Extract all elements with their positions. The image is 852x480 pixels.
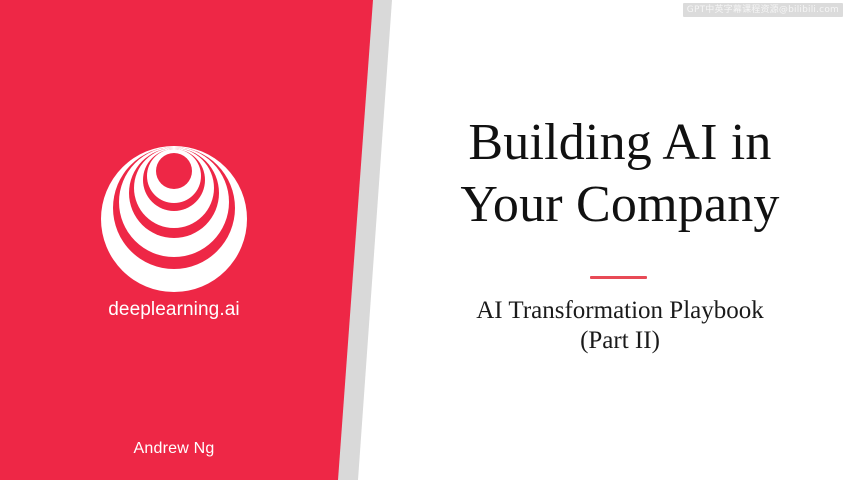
watermark-label: GPT中英字幕课程资源@bilibili.com [683,3,843,17]
slide-title-line-2: Your Company [400,174,840,236]
deeplearning-ai-logo-icon [100,144,248,294]
brand-panel: deeplearning.ai Andrew Ng [0,0,348,480]
horizontal-rule-icon [590,276,647,279]
slide-subtitle-line-1: AI Transformation Playbook [400,296,840,326]
slide-subtitle: AI Transformation Playbook (Part II) [400,296,840,356]
slide-title: Building AI in Your Company [400,112,840,236]
slide-title-line-1: Building AI in [400,112,840,174]
presentation-slide: deeplearning.ai Andrew Ng Building AI in… [0,0,852,480]
slide-subtitle-line-2: (Part II) [400,326,840,356]
author-name: Andrew Ng [0,440,348,458]
title-panel: Building AI in Your Company AI Transform… [400,0,852,480]
brand-name: deeplearning.ai [0,299,348,321]
